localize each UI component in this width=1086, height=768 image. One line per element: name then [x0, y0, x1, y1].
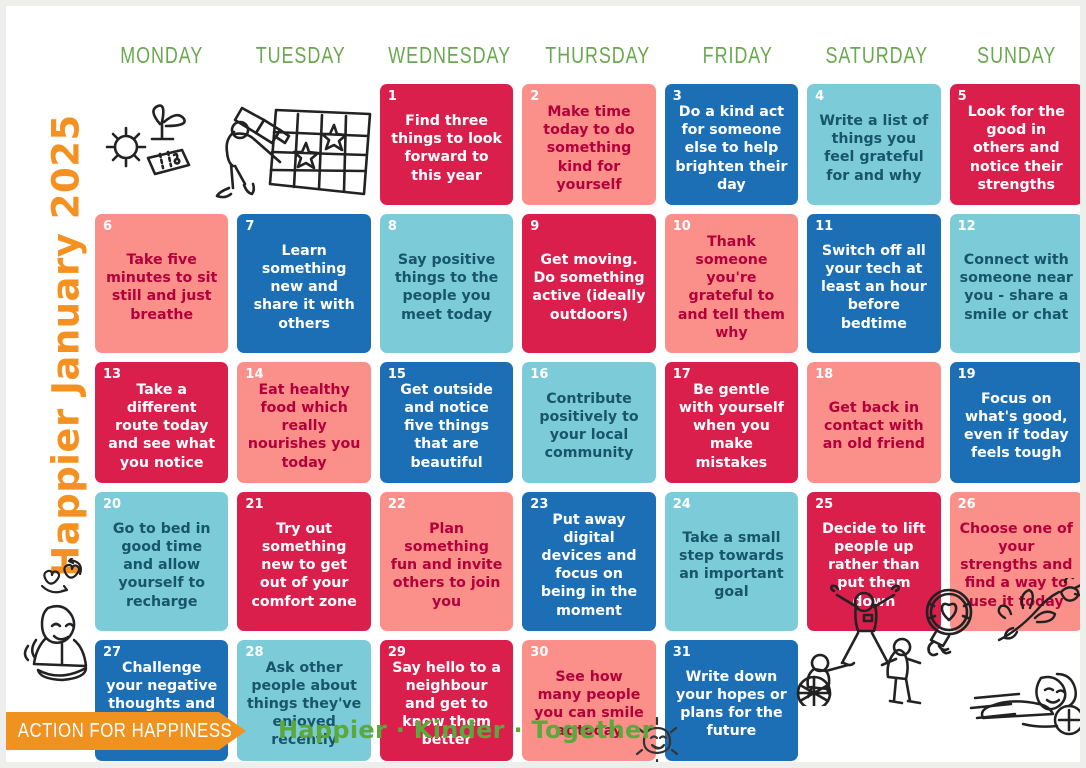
day-action-text: Make time today to do something kind for… [530, 103, 647, 197]
calendar-day-17[interactable]: 17Be gentle with yourself when you make … [665, 362, 798, 483]
day-action-text: Try out something new to get out of your… [245, 511, 362, 623]
calendar-day-8[interactable]: 8Say positive things to the people you m… [380, 214, 513, 353]
calendar-day-14[interactable]: 14Eat healthy food which really nourishe… [237, 362, 370, 483]
day-action-text: Focus on what's good, even if today feel… [958, 381, 1075, 475]
day-action-text: Take five minutes to sit still and just … [103, 233, 220, 345]
day-action-text: Contribute positively to your local comm… [530, 381, 647, 475]
page-title: Happier January 2025 [45, 36, 88, 656]
day-action-text: Plan something fun and invite others to … [388, 511, 505, 623]
day-number: 13 [103, 368, 220, 381]
calendar-day-13[interactable]: 13Take a different route today and see w… [95, 362, 228, 483]
weekday-header-thursday: THURSDAY [544, 42, 653, 76]
day-action-text: Say positive things to the people you me… [388, 233, 505, 345]
title-strip: Happier January 2025 [6, 6, 92, 768]
day-action-text: Get outside and notice five things that … [388, 381, 505, 475]
calendar-day-20[interactable]: 20Go to bed in good time and allow yours… [95, 492, 228, 631]
day-action-text: Put away digital devices and focus on be… [530, 511, 647, 623]
day-number: 15 [388, 368, 505, 381]
day-number: 5 [958, 90, 1075, 103]
day-action-text: Look for the good in others and notice t… [958, 103, 1075, 197]
day-action-text: Take a different route today and see wha… [103, 381, 220, 475]
day-number: 8 [388, 220, 505, 233]
calendar-cell-empty [95, 84, 228, 205]
day-number: 14 [245, 368, 362, 381]
day-number: 17 [673, 368, 790, 381]
day-action-text: Thank someone you're grateful to and tel… [673, 233, 790, 345]
day-action-text: Eat healthy food which really nourishes … [245, 381, 362, 475]
day-number: 28 [245, 646, 362, 659]
calendar-grid: 1Find three things to look forward to th… [95, 84, 1083, 704]
calendar-day-4[interactable]: 4Write a list of things you feel gratefu… [807, 84, 940, 205]
weekday-header-saturday: SATURDAY [822, 42, 931, 76]
calendar-day-19[interactable]: 19Focus on what's good, even if today fe… [950, 362, 1083, 483]
day-number: 7 [245, 220, 362, 233]
tagline: Happier · Kinder · Together [278, 716, 598, 744]
day-number: 9 [530, 220, 647, 233]
weekday-header-friday: FRIDAY [683, 42, 792, 76]
day-number: 29 [388, 646, 505, 659]
calendar-day-6[interactable]: 6Take five minutes to sit still and just… [95, 214, 228, 353]
day-action-text: Do a kind act for someone else to help b… [673, 103, 790, 197]
day-action-text: Get moving. Do something active (ideally… [530, 233, 647, 345]
day-number: 4 [815, 90, 932, 103]
weekday-header-monday: MONDAY [107, 42, 216, 76]
calendar-day-10[interactable]: 10Thank someone you're grateful to and t… [665, 214, 798, 353]
day-number: 12 [958, 220, 1075, 233]
day-number: 16 [530, 368, 647, 381]
calendar-day-1[interactable]: 1Find three things to look forward to th… [380, 84, 513, 205]
day-action-text: Take a small step towards an important g… [673, 511, 790, 623]
day-action-text: Get back in contact with an old friend [815, 381, 932, 475]
day-number: 26 [958, 498, 1075, 511]
brand-label: ACTION FOR HAPPINESS [6, 720, 232, 743]
footer: ACTION FOR HAPPINESS Happier · Kinder · … [6, 700, 1086, 762]
calendar-day-26[interactable]: 26Choose one of your strengths and find … [950, 492, 1083, 631]
calendar-day-21[interactable]: 21Try out something new to get out of yo… [237, 492, 370, 631]
brand-ribbon: ACTION FOR HAPPINESS [6, 712, 246, 750]
weekday-header-wednesday: WEDNESDAY [388, 42, 511, 76]
day-number: 23 [530, 498, 647, 511]
day-number: 30 [530, 646, 647, 659]
weekday-header-tuesday: TUESDAY [247, 42, 356, 76]
day-number: 1 [388, 90, 505, 103]
calendar-day-15[interactable]: 15Get outside and notice five things tha… [380, 362, 513, 483]
calendar-day-3[interactable]: 3Do a kind act for someone else to help … [665, 84, 798, 205]
calendar-cell-empty [237, 84, 370, 205]
calendar-day-24[interactable]: 24Take a small step towards an important… [665, 492, 798, 631]
calendar-day-5[interactable]: 5Look for the good in others and notice … [950, 84, 1083, 205]
day-action-text: Switch off all your tech at least an hou… [815, 233, 932, 345]
day-number: 3 [673, 90, 790, 103]
calendar-day-18[interactable]: 18Get back in contact with an old friend [807, 362, 940, 483]
day-number: 24 [673, 498, 790, 511]
day-number: 11 [815, 220, 932, 233]
calendar-day-11[interactable]: 11Switch off all your tech at least an h… [807, 214, 940, 353]
calendar-day-22[interactable]: 22Plan something fun and invite others t… [380, 492, 513, 631]
calendar-day-9[interactable]: 9Get moving. Do something active (ideall… [522, 214, 655, 353]
day-number: 2 [530, 90, 647, 103]
day-number: 20 [103, 498, 220, 511]
day-number: 19 [958, 368, 1075, 381]
calendar-day-16[interactable]: 16Contribute positively to your local co… [522, 362, 655, 483]
calendar-poster: Happier January 2025 MONDAYTUESDAYWEDNES… [0, 0, 1086, 768]
day-number: 31 [673, 646, 790, 659]
day-number: 25 [815, 498, 932, 511]
weekday-header-row: MONDAYTUESDAYWEDNESDAYTHURSDAYFRIDAYSATU… [92, 42, 1086, 76]
calendar-day-2[interactable]: 2Make time today to do something kind fo… [522, 84, 655, 205]
calendar-day-23[interactable]: 23Put away digital devices and focus on … [522, 492, 655, 631]
day-number: 18 [815, 368, 932, 381]
day-number: 22 [388, 498, 505, 511]
day-number: 27 [103, 646, 220, 659]
calendar-day-25[interactable]: 25Decide to lift people up rather than p… [807, 492, 940, 631]
weekday-header-sunday: SUNDAY [962, 42, 1071, 76]
day-action-text: Find three things to look forward to thi… [388, 103, 505, 197]
day-action-text: Choose one of your strengths and find a … [958, 511, 1075, 623]
day-number: 10 [673, 220, 790, 233]
day-number: 21 [245, 498, 362, 511]
day-number: 6 [103, 220, 220, 233]
day-action-text: Write a list of things you feel grateful… [815, 103, 932, 197]
day-action-text: Be gentle with yourself when you make mi… [673, 381, 790, 475]
day-action-text: Connect with someone near you - share a … [958, 233, 1075, 345]
day-action-text: Decide to lift people up rather than put… [815, 511, 932, 623]
calendar-day-12[interactable]: 12Connect with someone near you - share … [950, 214, 1083, 353]
calendar-day-7[interactable]: 7Learn something new and share it with o… [237, 214, 370, 353]
day-action-text: Learn something new and share it with ot… [245, 233, 362, 345]
day-action-text: Go to bed in good time and allow yoursel… [103, 511, 220, 623]
